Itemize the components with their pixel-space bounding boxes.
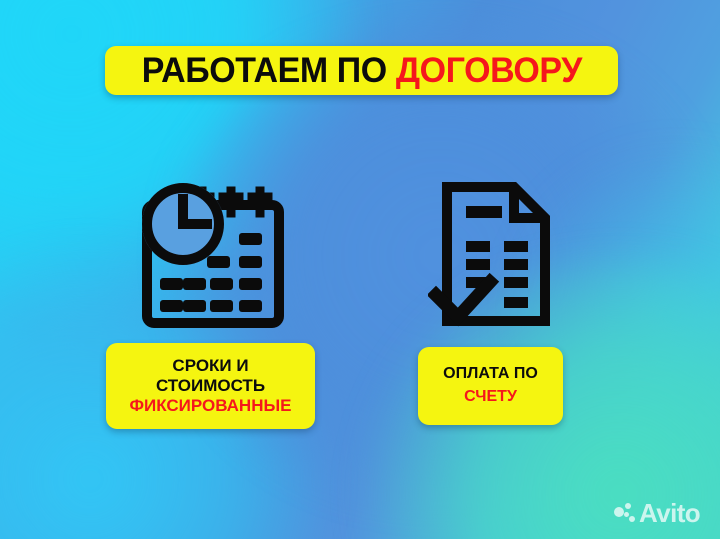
caption-box-invoice: ОПЛАТА ПО СЧЕТУ bbox=[418, 347, 563, 425]
headline-text-primary: РАБОТАЕМ ПО bbox=[141, 51, 386, 90]
caption-line: СЧЕТУ bbox=[464, 388, 517, 407]
invoice-check-icon bbox=[428, 178, 554, 330]
avito-watermark-label: Avito bbox=[639, 500, 700, 526]
feature-block-deadlines: СРОКИ И СТОИМОСТЬ ФИКСИРОВАННЫЕ bbox=[106, 178, 315, 429]
avito-watermark: Avito bbox=[614, 500, 700, 526]
feature-block-invoice: ОПЛАТА ПО СЧЕТУ bbox=[418, 178, 563, 425]
caption-line: ФИКСИРОВАННЫЕ bbox=[130, 396, 292, 416]
headline-text-accent: ДОГОВОРУ bbox=[395, 51, 581, 90]
caption-line: ОПЛАТА ПО bbox=[443, 365, 538, 384]
headline-text: РАБОТАЕМ ПО ДОГОВОРУ bbox=[141, 53, 581, 88]
caption-box-deadlines: СРОКИ И СТОИМОСТЬ ФИКСИРОВАННЫЕ bbox=[106, 343, 315, 429]
caption-line: СТОИМОСТЬ bbox=[156, 376, 265, 396]
calendar-clock-icon bbox=[136, 178, 286, 330]
headline-badge: РАБОТАЕМ ПО ДОГОВОРУ bbox=[105, 46, 618, 95]
avito-logo-dots-icon bbox=[614, 503, 635, 524]
caption-line: СРОКИ И bbox=[172, 356, 248, 376]
promo-banner: РАБОТАЕМ ПО ДОГОВОРУ bbox=[0, 0, 720, 539]
